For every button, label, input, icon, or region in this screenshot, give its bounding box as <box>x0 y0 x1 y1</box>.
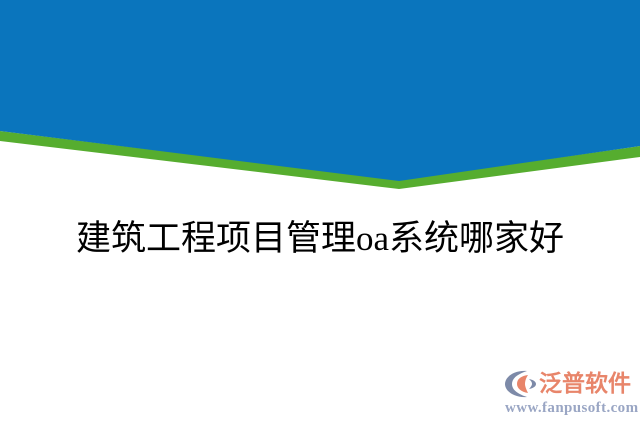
logo-wordmark: 泛普软件 <box>539 369 631 399</box>
page-title: 建筑工程项目管理oa系统哪家好 <box>0 216 640 262</box>
chevron-banner <box>0 0 640 200</box>
logo-row: 泛普软件 <box>503 368 631 400</box>
fanpu-circle-mark-icon <box>503 369 537 399</box>
logo-url: www.fanpusoft.com <box>505 400 638 417</box>
brand-logo: 泛普软件 www.fanpusoft.com <box>503 368 635 420</box>
blue-chevron-header <box>0 0 640 181</box>
presentation-slide: 建筑工程项目管理oa系统哪家好 泛普软件 www.fanpusoft.com <box>0 0 640 427</box>
